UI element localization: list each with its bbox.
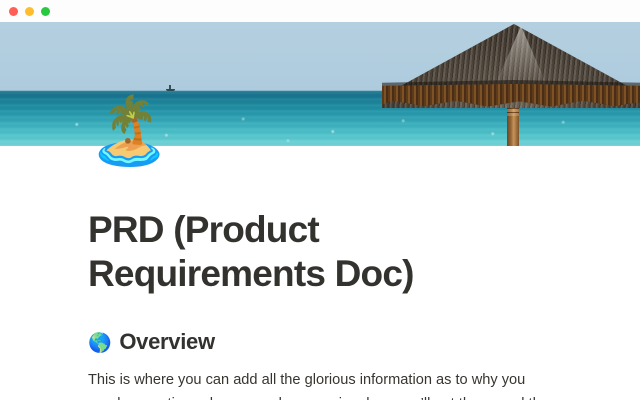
document-body: PRD (Product Requirements Doc) 🌎 Overvie… xyxy=(0,146,640,400)
section-paragraph-overview[interactable]: This is where you can add all the glorio… xyxy=(88,369,550,400)
minimize-window-button[interactable] xyxy=(25,7,34,16)
boat-silhouette-icon xyxy=(166,86,175,91)
section-heading-label: Overview xyxy=(119,329,214,355)
window-titlebar xyxy=(0,0,640,22)
desert-island-emoji[interactable]: 🏝️ xyxy=(88,98,170,164)
traffic-light-controls xyxy=(9,7,50,16)
section-heading-overview[interactable]: 🌎 Overview xyxy=(88,329,552,355)
page-title[interactable]: PRD (Product Requirements Doc) xyxy=(88,208,552,295)
earth-globe-americas-emoji: 🌎 xyxy=(88,331,111,354)
close-window-button[interactable] xyxy=(9,7,18,16)
maximize-window-button[interactable] xyxy=(41,7,50,16)
app-window: 🏝️ PRD (Product Requirements Doc) 🌎 Over… xyxy=(0,0,640,400)
palapa-umbrella-illustration xyxy=(388,22,640,146)
